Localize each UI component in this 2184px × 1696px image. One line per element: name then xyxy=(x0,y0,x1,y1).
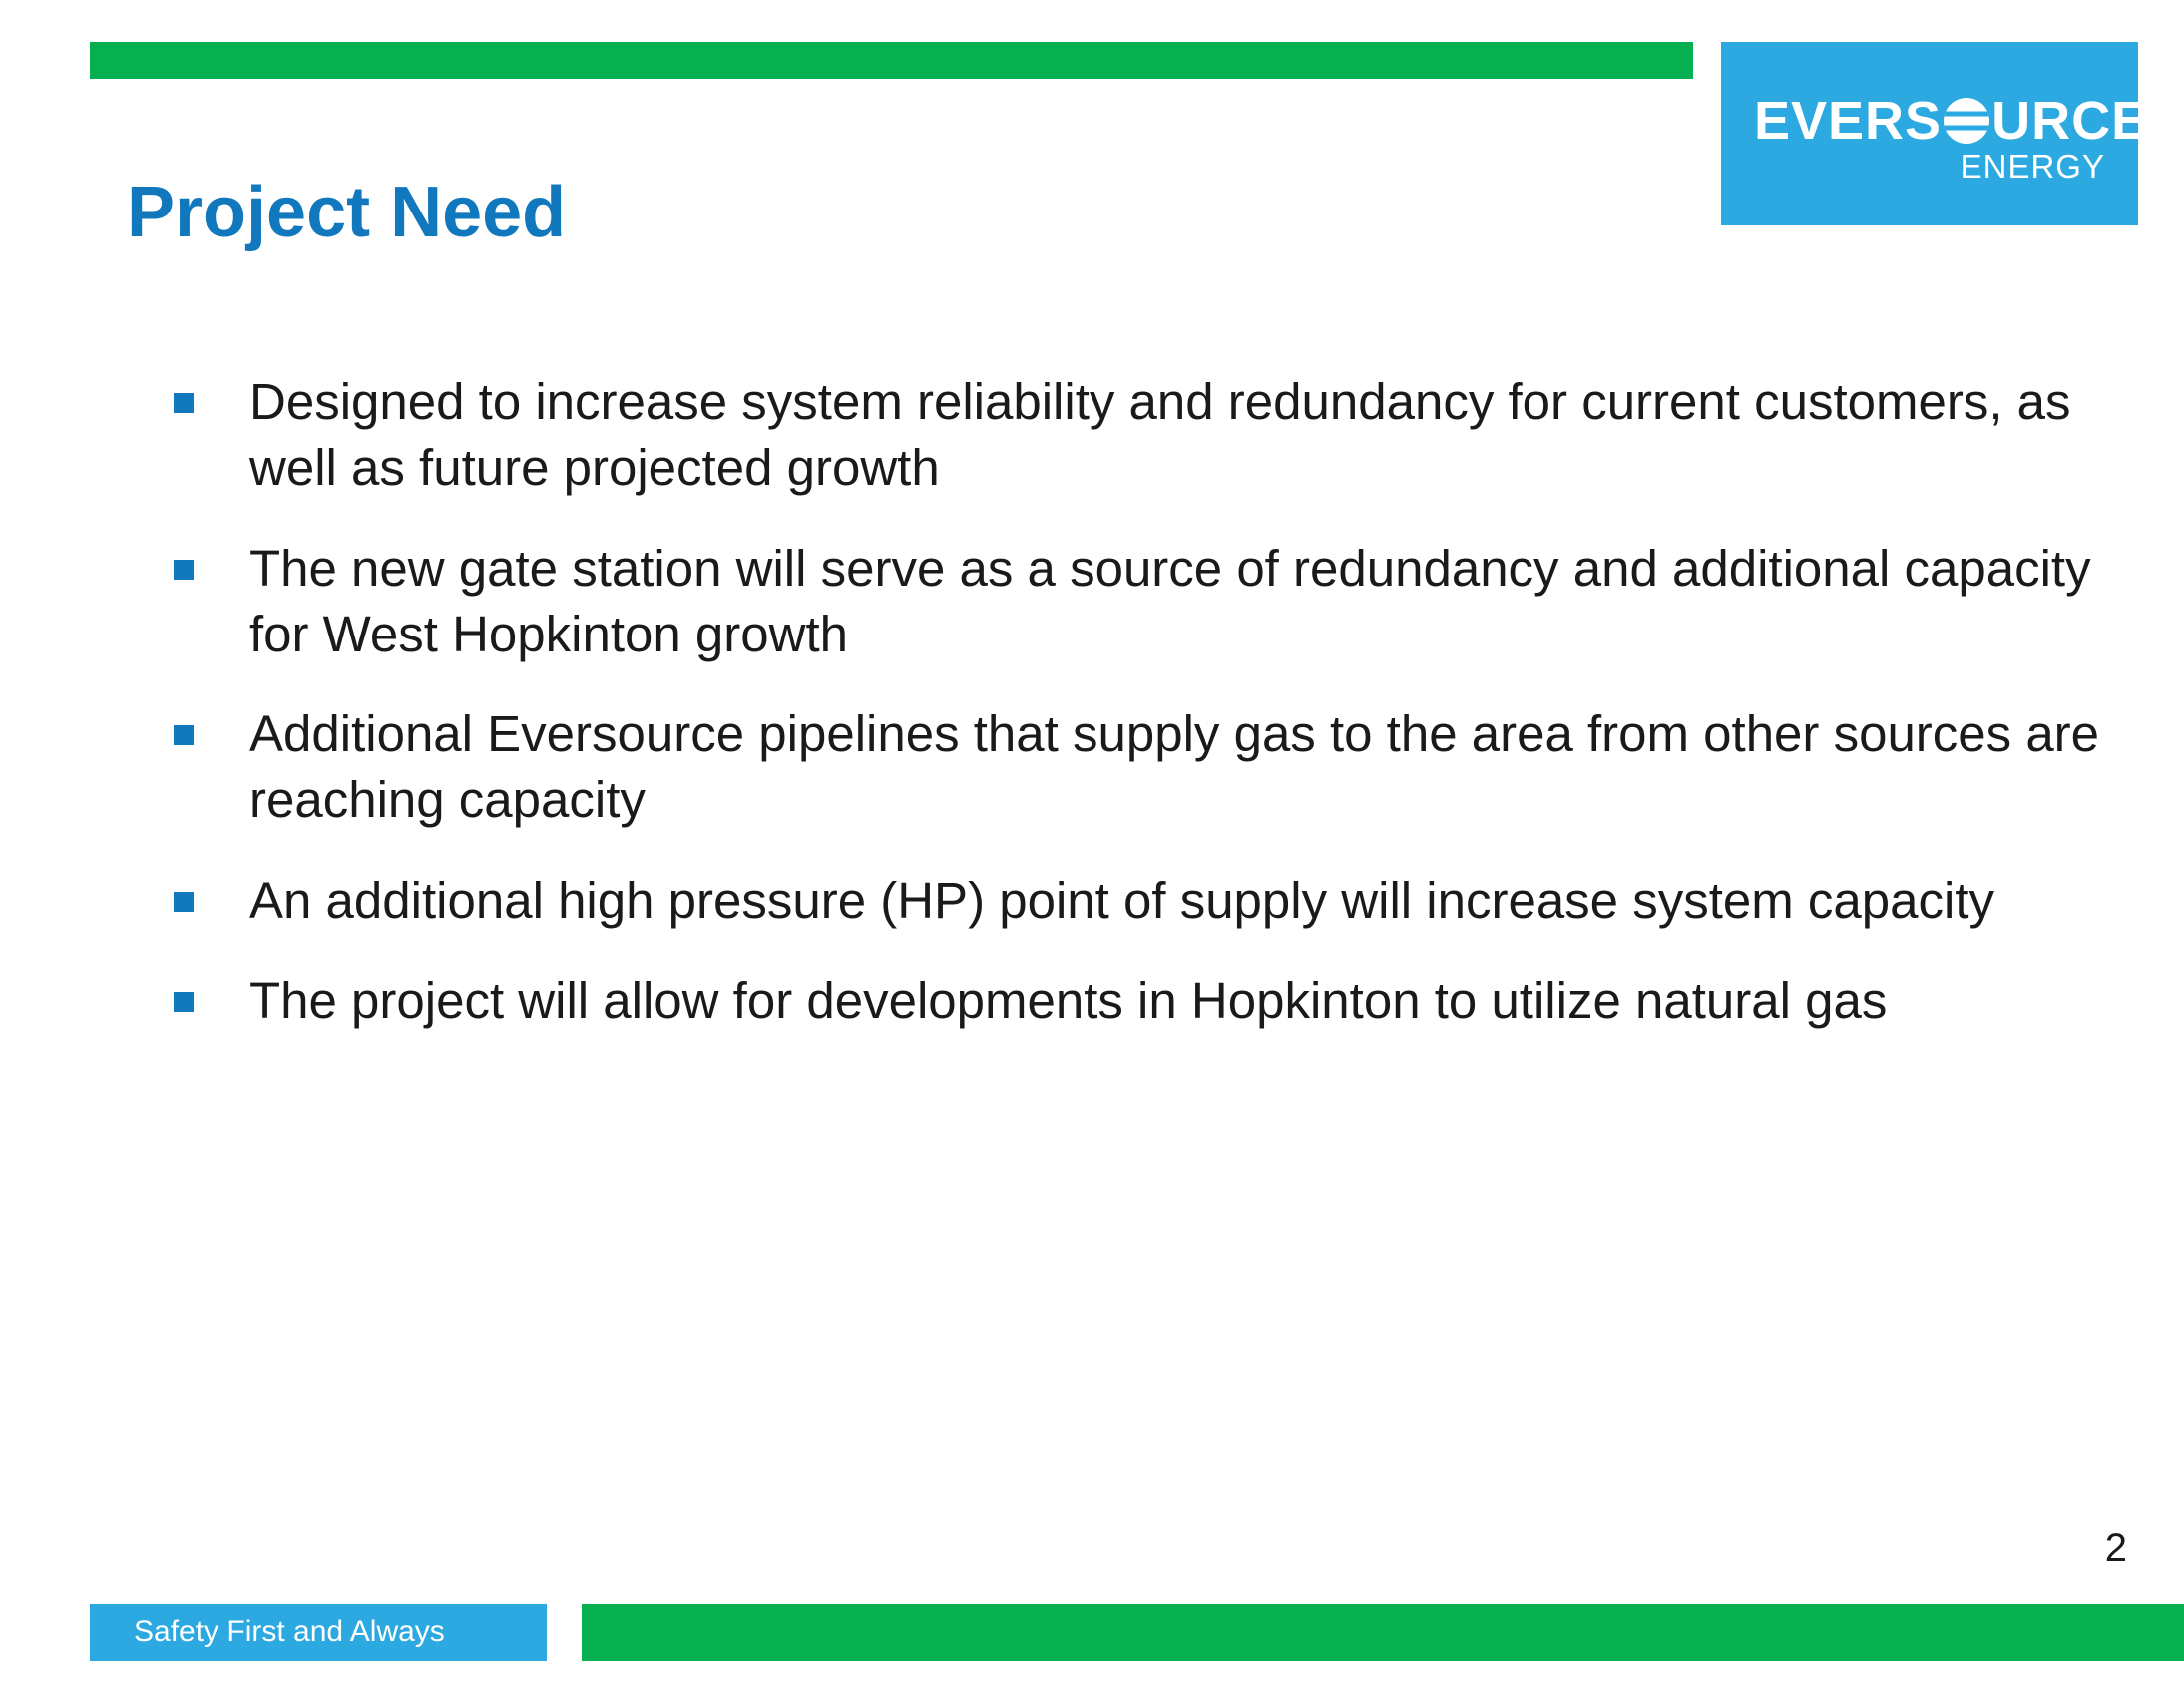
square-bullet-icon xyxy=(174,725,194,745)
page-title: Project Need xyxy=(127,174,566,252)
bullet-text: Additional Eversource pipelines that sup… xyxy=(249,701,2103,834)
square-bullet-icon xyxy=(174,992,194,1012)
footer-tagline-text: Safety First and Always xyxy=(134,1617,445,1647)
slide-canvas: EVERS URCE ENERGY Project Need xyxy=(0,0,2184,1696)
bullet-text: Designed to increase system reliability … xyxy=(249,369,2103,502)
logo-word-after: URCE xyxy=(1991,94,2148,148)
list-item: Additional Eversource pipelines that sup… xyxy=(168,701,2103,834)
striped-globe-icon xyxy=(1943,97,1990,145)
list-item: The project will allow for developments … xyxy=(168,968,2103,1034)
list-item: An additional high pressure (HP) point o… xyxy=(168,868,2103,934)
list-item: Designed to increase system reliability … xyxy=(168,369,2103,502)
footer-tagline-bar: Safety First and Always xyxy=(90,1604,547,1661)
square-bullet-icon xyxy=(174,560,194,580)
bullet-text: The project will allow for developments … xyxy=(249,968,2103,1034)
logo-wordmark: EVERS URCE xyxy=(1754,94,2105,148)
logo-word-before: EVERS xyxy=(1754,94,1942,148)
list-item: The new gate station will serve as a sou… xyxy=(168,536,2103,668)
eversource-logo: EVERS URCE ENERGY xyxy=(1721,42,2138,225)
footer-green-rule xyxy=(582,1604,2184,1661)
page-number: 2 xyxy=(2105,1528,2127,1568)
logo-subtitle: ENERGY xyxy=(1754,150,2105,183)
square-bullet-icon xyxy=(174,892,194,912)
bullet-text: The new gate station will serve as a sou… xyxy=(249,536,2103,668)
bullet-list: Designed to increase system reliability … xyxy=(168,369,2103,1067)
square-bullet-icon xyxy=(174,393,194,413)
bullet-text: An additional high pressure (HP) point o… xyxy=(249,868,2103,934)
header-green-rule xyxy=(90,42,1693,79)
